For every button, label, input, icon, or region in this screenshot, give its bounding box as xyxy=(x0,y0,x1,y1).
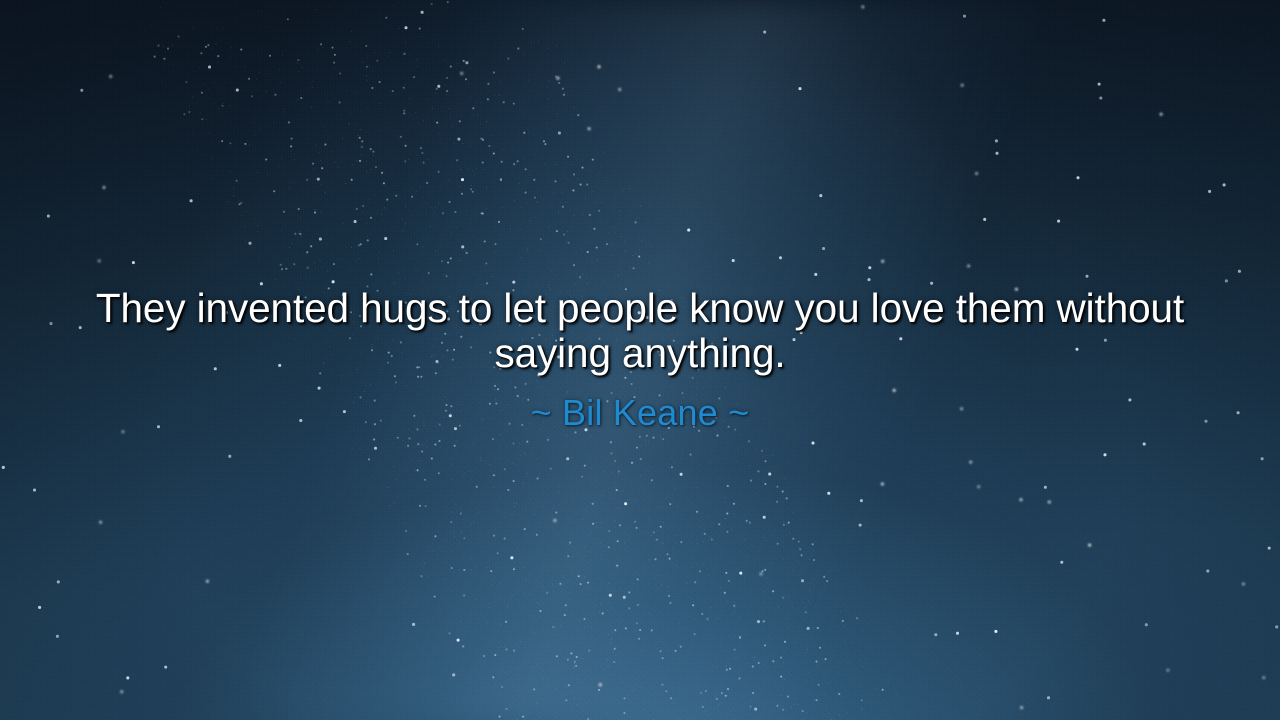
star-field-glow xyxy=(0,0,3,3)
quote-slide: They invented hugs to let people know yo… xyxy=(0,0,1280,720)
quote-author: ~ Bil Keane ~ xyxy=(40,392,1240,434)
quote-block: They invented hugs to let people know yo… xyxy=(0,286,1280,434)
quote-text: They invented hugs to let people know yo… xyxy=(88,286,1193,376)
